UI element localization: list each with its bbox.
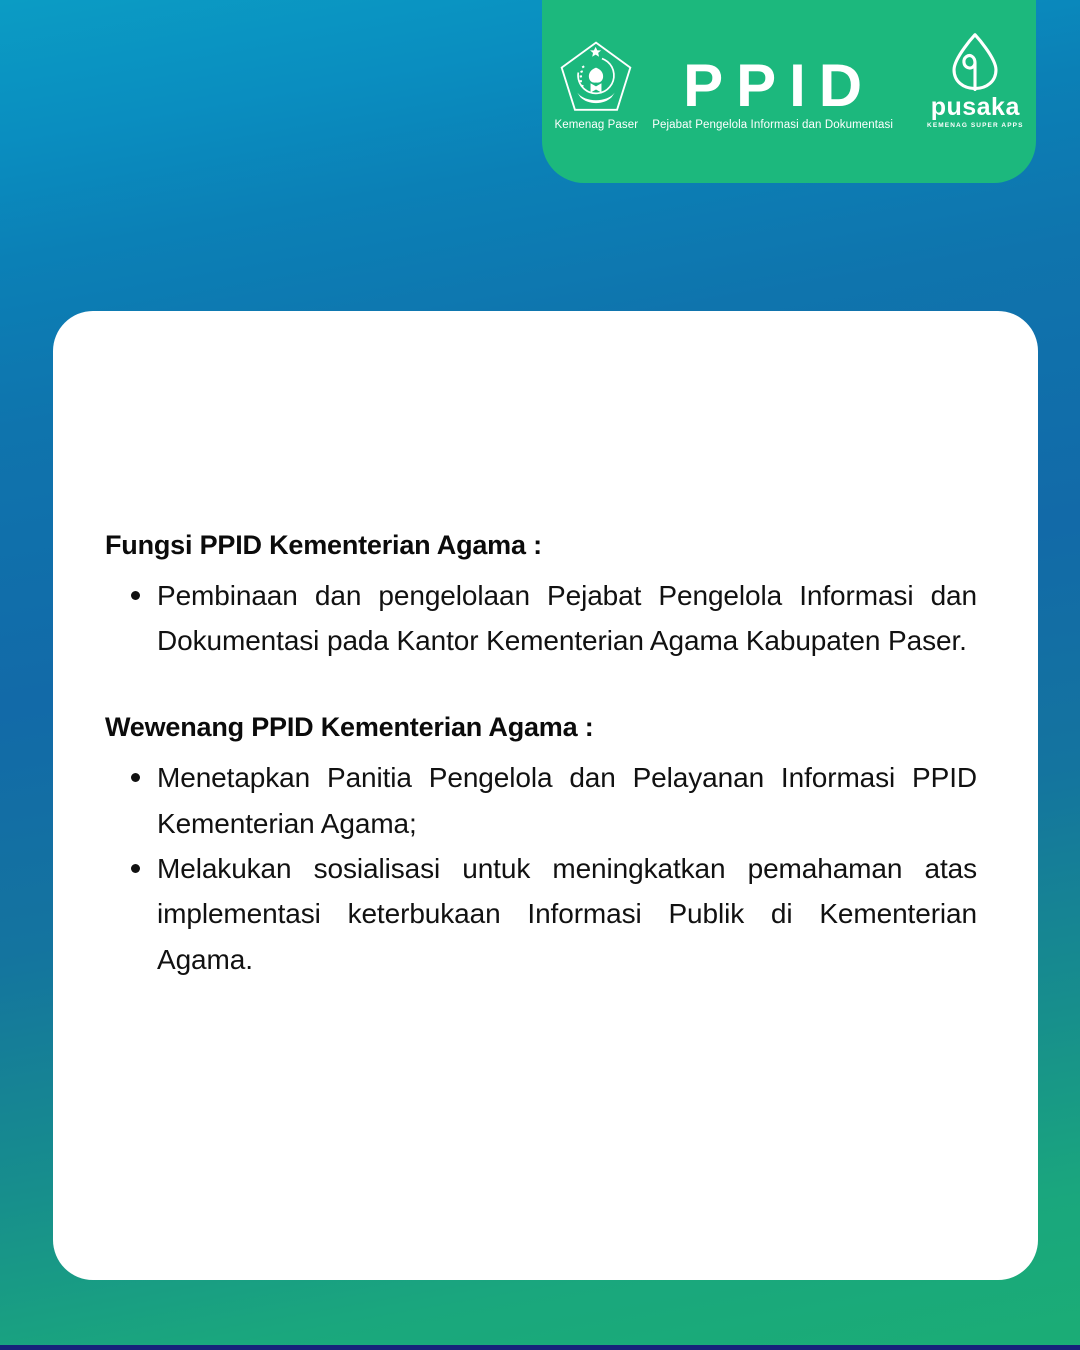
- sections-container: Fungsi PPID Kementerian Agama :Pembinaan…: [105, 529, 977, 982]
- bullet-list: Menetapkan Panitia Pengelola dan Pelayan…: [105, 755, 977, 982]
- content-card: Fungsi PPID Kementerian Agama :Pembinaan…: [53, 311, 1038, 1280]
- pusaka-subtitle: KEMENAG SUPER APPS: [927, 122, 1024, 129]
- header-brand-card: Kemenag Paser PPID Pejabat Pengelola Inf…: [542, 0, 1036, 183]
- kemenag-pentagon-icon: [557, 38, 635, 116]
- pusaka-brand-block: pusaka KEMENAG SUPER APPS: [927, 32, 1024, 129]
- section-title: Wewenang PPID Kementerian Agama :: [105, 711, 977, 745]
- list-item: Melakukan sosialisasi untuk meningkatkan…: [105, 846, 977, 982]
- bullet-list: Pembinaan dan pengelolaan Pejabat Pengel…: [105, 573, 977, 664]
- ppid-brand-block: PPID Pejabat Pengelola Informasi dan Dok…: [652, 57, 893, 131]
- kemenag-caption: Kemenag Paser: [554, 119, 638, 131]
- pusaka-wordmark: pusaka: [931, 95, 1020, 120]
- brand-row: Kemenag Paser PPID Pejabat Pengelola Inf…: [554, 32, 1023, 131]
- kemenag-brand-block: Kemenag Paser: [554, 38, 638, 131]
- pusaka-droplet-icon: [947, 32, 1003, 94]
- bottom-edge-strip: [0, 1345, 1080, 1350]
- ppid-caption: Pejabat Pengelola Informasi dan Dokument…: [652, 119, 893, 131]
- list-item: Menetapkan Panitia Pengelola dan Pelayan…: [105, 755, 977, 846]
- ppid-wordmark: PPID: [670, 57, 875, 114]
- content-section: Fungsi PPID Kementerian Agama :Pembinaan…: [105, 529, 977, 663]
- list-item: Pembinaan dan pengelolaan Pejabat Pengel…: [105, 573, 977, 664]
- section-title: Fungsi PPID Kementerian Agama :: [105, 529, 977, 563]
- content-section: Wewenang PPID Kementerian Agama :Menetap…: [105, 711, 977, 982]
- poster-canvas: Kemenag Paser PPID Pejabat Pengelola Inf…: [0, 0, 1080, 1350]
